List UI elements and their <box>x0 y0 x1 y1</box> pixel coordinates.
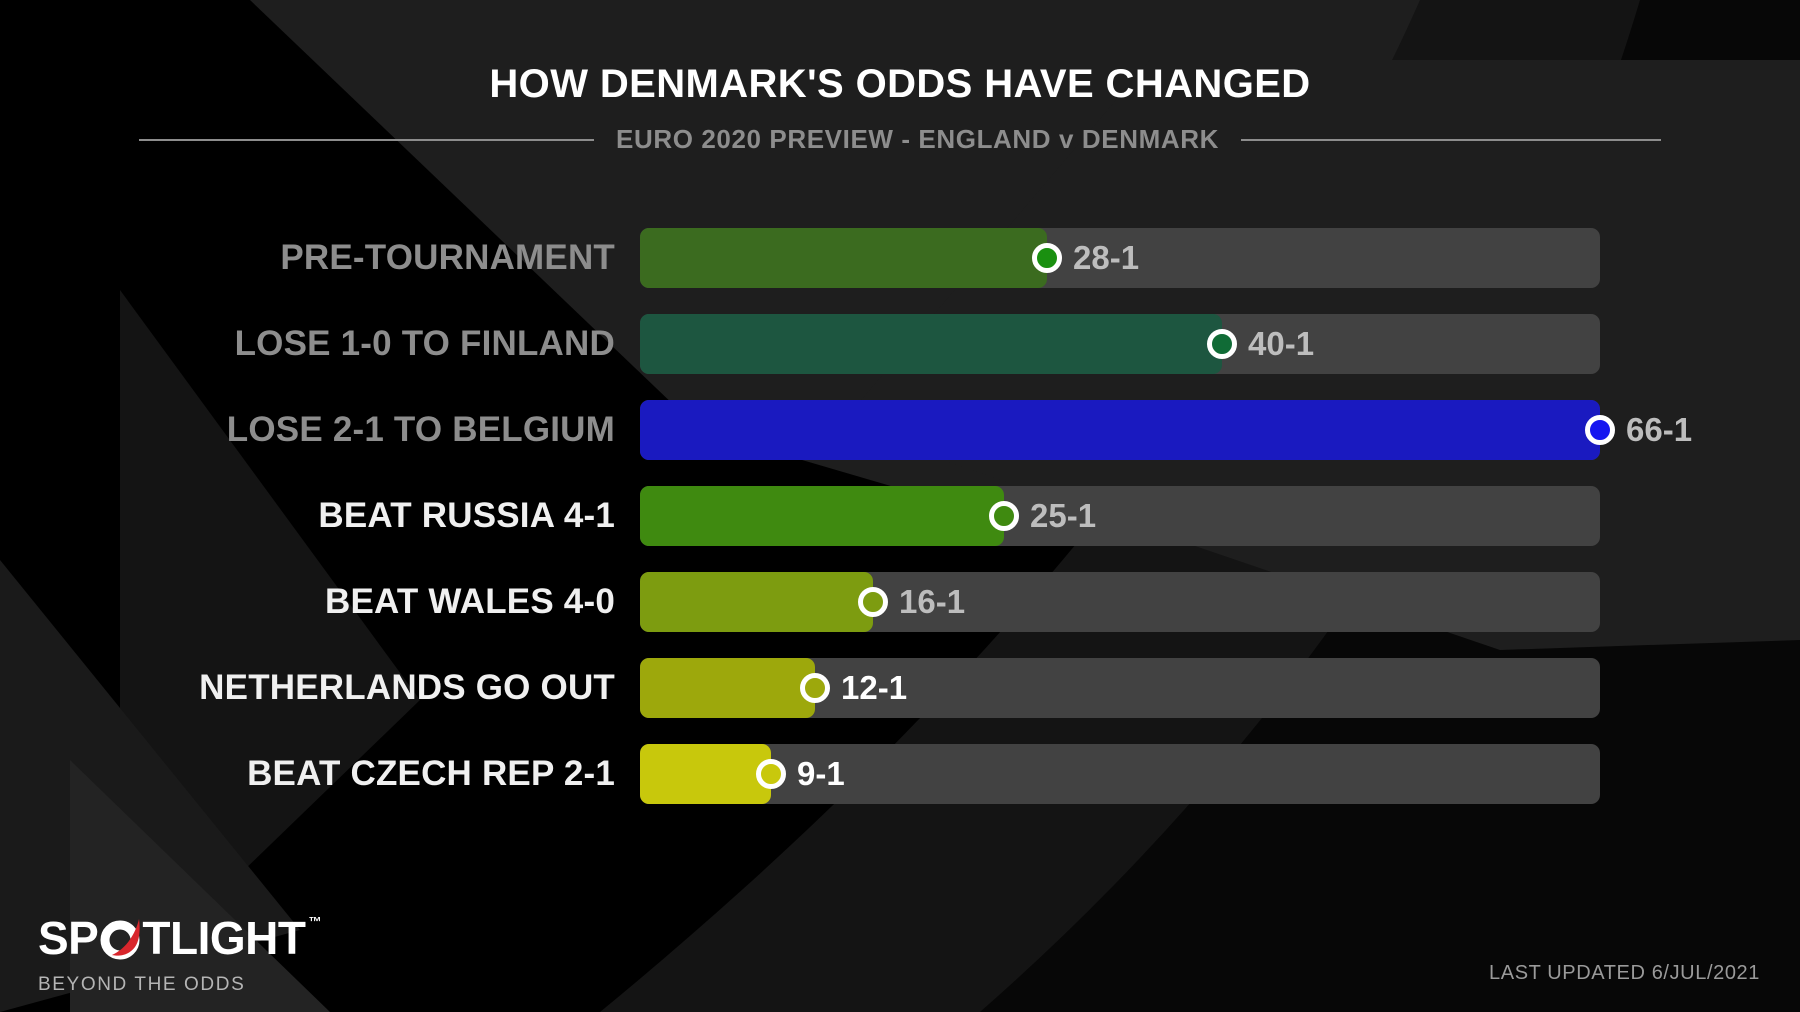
odds-value: 28-1 <box>1073 239 1139 277</box>
row-label: LOSE 1-0 TO FINLAND <box>235 324 615 364</box>
chart-row: BEAT RUSSIA 4-125-1 <box>0 486 1800 572</box>
bar-track: 28-1 <box>640 228 1600 288</box>
chart-row: NETHERLANDS GO OUT12-1 <box>0 658 1800 744</box>
page-subtitle: EURO 2020 PREVIEW - ENGLAND v DENMARK <box>616 124 1219 155</box>
bar-end-marker <box>1585 415 1615 445</box>
bar-track: 12-1 <box>640 658 1600 718</box>
bar-end-marker <box>1207 329 1237 359</box>
bar-end-marker <box>858 587 888 617</box>
subtitle-rule-left <box>139 139 594 141</box>
odds-value: 12-1 <box>841 669 907 707</box>
bar-track: 66-1 <box>640 400 1600 460</box>
bar-end-marker <box>989 501 1019 531</box>
bar-track: 16-1 <box>640 572 1600 632</box>
row-label: BEAT CZECH REP 2-1 <box>247 754 615 794</box>
odds-value: 9-1 <box>797 755 845 793</box>
row-label: PRE-TOURNAMENT <box>280 238 615 278</box>
bar-end-marker <box>756 759 786 789</box>
odds-value: 16-1 <box>899 583 965 621</box>
chart-row: LOSE 1-0 TO FINLAND40-1 <box>0 314 1800 400</box>
odds-value: 40-1 <box>1248 325 1314 363</box>
odds-value: 66-1 <box>1626 411 1692 449</box>
bar-track: 25-1 <box>640 486 1600 546</box>
row-label: LOSE 2-1 TO BELGIUM <box>227 410 615 450</box>
bar-fill <box>640 314 1222 374</box>
chart-row: LOSE 2-1 TO BELGIUM66-1 <box>0 400 1800 486</box>
logo-text-tlight: TLIGHT <box>142 915 305 961</box>
logo-tagline: BEYOND THE ODDS <box>38 974 321 996</box>
last-updated-label: LAST UPDATED 6/JUL/2021 <box>1489 962 1760 985</box>
bar-track: 40-1 <box>640 314 1600 374</box>
bar-end-marker <box>800 673 830 703</box>
bar-fill <box>640 744 771 804</box>
spotlight-o-icon <box>98 915 142 961</box>
subtitle-rule-right <box>1241 139 1661 141</box>
bar-end-marker <box>1032 243 1062 273</box>
odds-value: 25-1 <box>1030 497 1096 535</box>
bar-fill <box>640 486 1004 546</box>
bar-fill <box>640 400 1600 460</box>
row-label: BEAT WALES 4-0 <box>325 582 615 622</box>
subtitle-row: EURO 2020 PREVIEW - ENGLAND v DENMARK <box>0 124 1800 155</box>
brand-logo: SP TLIGHT ™ BEYOND THE ODDS <box>38 915 321 996</box>
bar-fill <box>640 658 815 718</box>
bar-fill <box>640 228 1047 288</box>
row-label: NETHERLANDS GO OUT <box>199 668 615 708</box>
logo-wordmark: SP TLIGHT ™ <box>38 915 321 961</box>
odds-bar-chart: PRE-TOURNAMENT28-1LOSE 1-0 TO FINLAND40-… <box>0 228 1800 830</box>
logo-text-sp: SP <box>38 915 98 961</box>
bar-track: 9-1 <box>640 744 1600 804</box>
chart-row: PRE-TOURNAMENT28-1 <box>0 228 1800 314</box>
header: HOW DENMARK'S ODDS HAVE CHANGED EURO 202… <box>0 0 1800 155</box>
page-title: HOW DENMARK'S ODDS HAVE CHANGED <box>0 62 1800 107</box>
trademark-symbol: ™ <box>308 915 321 928</box>
chart-row: BEAT WALES 4-016-1 <box>0 572 1800 658</box>
row-label: BEAT RUSSIA 4-1 <box>318 496 615 536</box>
chart-row: BEAT CZECH REP 2-19-1 <box>0 744 1800 830</box>
bar-fill <box>640 572 873 632</box>
